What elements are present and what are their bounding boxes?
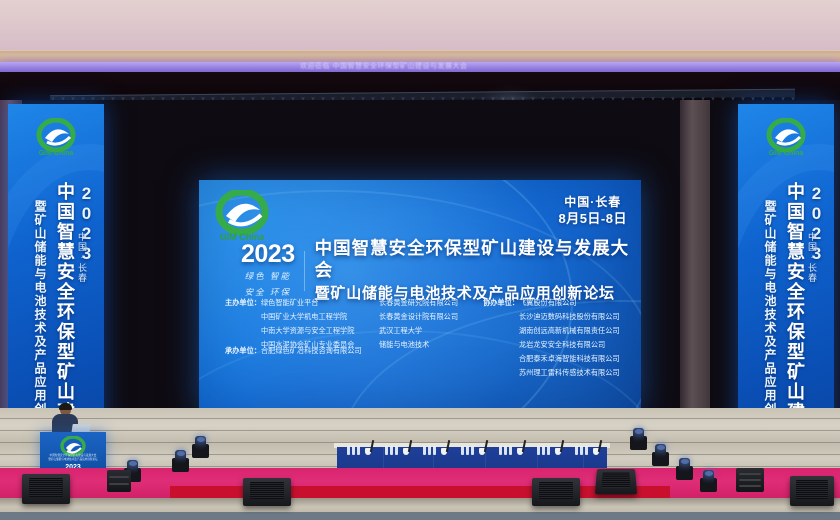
host-list-col1: 绿色智能矿业平台中国矿业大学机电工程学院中南大学资源与安全工程学院中国水泥协会矿… [261,296,379,380]
water-bottles [575,446,591,455]
floor-front-strip [0,512,840,520]
main-led-screen: GIM China 中国·长春 8月5日-8日 2023 绿色 智能 安全 环保… [199,180,641,412]
floor-moving-light-5 [652,444,669,466]
svg-text:GIM China: GIM China [769,150,804,157]
host-list-col2: 长春黄金研究院有限公司长春黄金设计院有限公司武汉工程大学储能与电池技术 [379,296,458,380]
floor-moving-light-1 [172,450,189,472]
screen-year: 2023 [241,242,295,267]
co-organizer-list: 飞翼股份有限公司长沙迪迈数码科技股份有限公司湖南创远高新机械有限责任公司龙岩龙安… [519,296,620,380]
floor-moving-light-7 [700,470,717,492]
co-organizer-label: 协办单位： [483,296,519,380]
screen-title-block: 2023 绿色 智能 安全 环保 中国智慧安全环保型矿山建设与发展大会 暨矿山储… [241,238,641,303]
organizers-block: 主办单位： 绿色智能矿业平台中国矿业大学机电工程学院中南大学资源与安全工程学院中… [225,296,627,380]
organizer-item: 中国矿业大学机电工程学院 [261,310,379,324]
screen-date-block: 中国·长春 8月5日-8日 [558,194,627,228]
organizer-item: 绿色智能矿业平台 [261,296,379,310]
banner-left-logo: GIM China [33,118,79,163]
organizer-item: 长沙迪迈数码科技股份有限公司 [519,310,620,324]
stage-monitor-4 [790,476,834,506]
water-bottles [385,446,401,455]
organizer-item: 长春黄金研究院有限公司 [379,296,458,310]
water-bottles [347,446,363,455]
floor-moving-light-6 [676,458,693,480]
podium-line-2: 暨矿山储能与电池技术及产品应用创新论坛 [40,458,106,462]
stage-monitor-1 [22,474,70,504]
organizer-item: 龙岩龙安安全科技有限公司 [519,338,620,352]
hall-column [680,100,710,430]
organizer-item: 中南大学资源与安全工程学院 [261,324,379,338]
co-organizers: 协办单位： 飞翼股份有限公司长沙迪迈数码科技股份有限公司湖南创远高新机械有限责任… [483,296,620,380]
organizer-item: 储能与电池技术 [379,338,458,352]
amplifier-rack [736,468,764,492]
organizer-item: 合肥泰禾卓海智能科技有限公司 [519,352,620,366]
organizer-item: 长春黄金设计院有限公司 [379,310,458,324]
undertaker-name: 合肥绿色矿冶科技咨询有限公司 [261,346,362,356]
stage-monitor-2 [243,478,291,506]
conference-stage-scene: 欢迎莅临 中国智慧安全环保型矿山建设与发展大会 GIM China 2023 中… [0,0,840,520]
banner-right-logo: GIM China [763,118,809,163]
organizer-item: 武汉工程大学 [379,324,458,338]
stage-monitor-3 [532,478,580,506]
undertaker-label: 承办单位： [225,346,261,356]
floor-moving-light-4 [630,428,647,450]
screen-title-main: 中国智慧安全环保型矿山建设与发展大会 [315,238,641,282]
screen-titles: 中国智慧安全环保型矿山建设与发展大会 暨矿山储能与电池技术及产品应用创新论坛 [315,238,641,303]
water-bottles [499,446,515,455]
confidence-monitor [595,469,637,494]
host-label: 主办单位： [225,296,261,380]
screen-slogan-1: 绿色 智能 [241,270,295,283]
equipment-case [107,470,131,492]
organizer-item: 苏州理工雷科传感技术有限公司 [519,366,620,380]
water-bottles [537,446,553,455]
led-ticker-text: 欢迎莅临 中国智慧安全环保型矿山建设与发展大会 [300,62,467,72]
organizer-item: 飞翼股份有限公司 [519,296,620,310]
screen-dates: 8月5日-8日 [558,210,627,228]
svg-text:GIM China: GIM China [39,150,74,157]
title-divider [304,251,305,291]
floor-moving-light-2 [192,436,209,458]
screen-year-box: 2023 绿色 智能 安全 环保 [241,242,295,299]
screen-location: 中国·长春 [558,194,627,210]
water-bottles [423,446,439,455]
host-organizers: 主办单位： 绿色智能矿业平台中国矿业大学机电工程学院中南大学资源与安全工程学院中… [225,296,475,380]
undertaker-block: 承办单位： 合肥绿色矿冶科技咨询有限公司 [225,346,362,356]
water-bottles [461,446,477,455]
organizer-item: 湖南创远高新机械有限责任公司 [519,324,620,338]
